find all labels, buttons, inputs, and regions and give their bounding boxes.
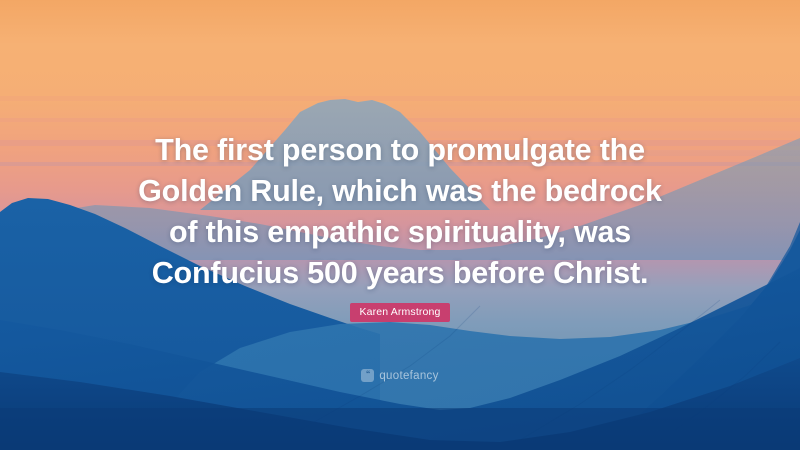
quote-line-4: Confucius 500 years before Christ. [0,253,800,294]
author-badge[interactable]: Karen Armstrong [350,303,449,322]
brand-name: quotefancy [379,370,438,382]
watermark: “ quotefancy [0,365,800,383]
author-attribution: Karen Armstrong [0,302,800,322]
quote-text: The first person to promulgate the Golde… [0,130,800,294]
quote-poster: The first person to promulgate the Golde… [0,0,800,450]
quote-line-1: The first person to promulgate the [0,130,800,171]
quote-mark-icon: “ [361,369,374,382]
bottom-vignette [0,408,800,450]
quote-line-2: Golden Rule, which was the bedrock [0,171,800,212]
quote-mark-glyph: “ [366,370,370,379]
quote-line-3: of this empathic spirituality, was [0,212,800,253]
